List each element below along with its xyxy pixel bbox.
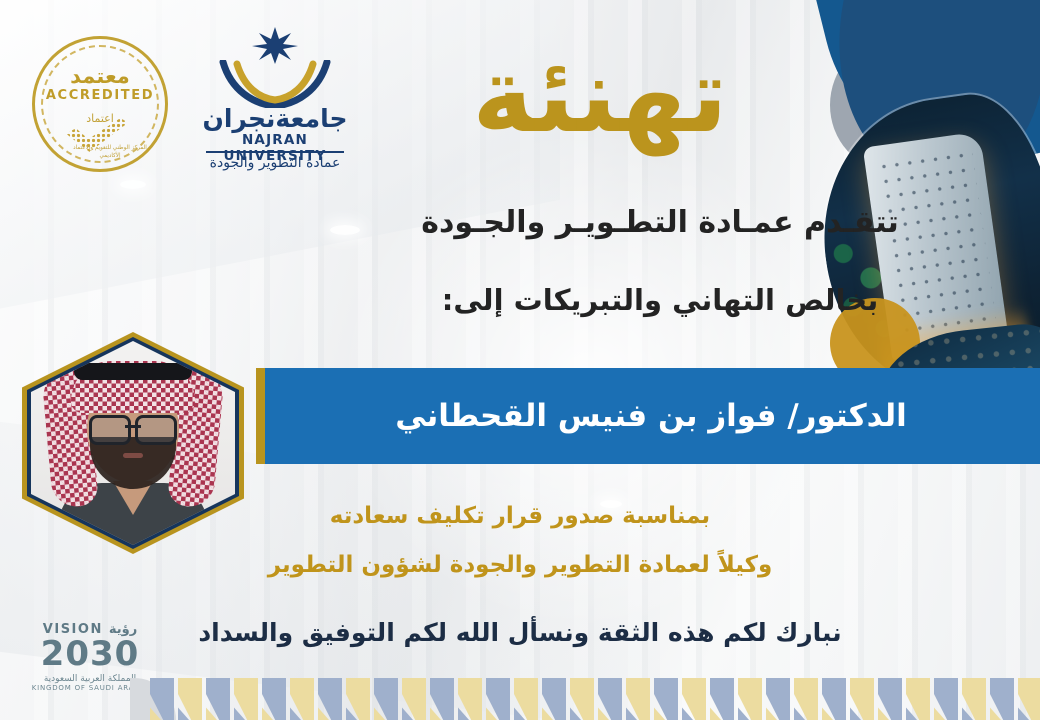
portrait-mouth xyxy=(123,453,143,458)
pattern-tile xyxy=(710,678,736,720)
pattern-tile xyxy=(514,678,540,720)
pattern-tile xyxy=(262,678,288,720)
message-line-2: وكيلاً لعمادة التطوير والجودة لشؤون التط… xyxy=(140,552,900,578)
pattern-tile xyxy=(234,678,260,720)
pattern-tile xyxy=(486,678,512,720)
pattern-tile xyxy=(878,678,904,720)
headline-line-2: بخالص التهاني والتبريكات إلى: xyxy=(340,283,980,317)
glasses-icon xyxy=(89,415,177,439)
pattern-tile xyxy=(626,678,652,720)
seal-fine-print: المركز الوطني للتقويم والاعتماد الأكاديم… xyxy=(70,144,150,161)
pattern-tile xyxy=(150,678,176,720)
pattern-tile xyxy=(934,678,960,720)
pattern-tile xyxy=(570,678,596,720)
honoree-name: الدكتور/ فواز بن فنيس القحطاني xyxy=(262,368,1040,464)
pattern-tile xyxy=(738,678,764,720)
pattern-tile xyxy=(822,678,848,720)
logo-arabic-name: جامعةنجران xyxy=(196,106,354,131)
pattern-tile xyxy=(794,678,820,720)
pattern-tile xyxy=(682,678,708,720)
portrait-igal xyxy=(74,363,192,380)
pattern-tile xyxy=(990,678,1016,720)
pattern-tile xyxy=(178,678,204,720)
headline-line-1: تتقـدم عمـادة التطـويـر والجـودة xyxy=(340,205,980,240)
logo-divider xyxy=(206,151,344,153)
pattern-tile xyxy=(346,678,372,720)
pattern-tile xyxy=(318,678,344,720)
pattern-tile xyxy=(962,678,988,720)
glasses-right-lens xyxy=(135,415,177,445)
pattern-tile xyxy=(542,678,568,720)
ceiling-lamp-icon xyxy=(120,180,146,189)
seal-arabic-sub: اعتماد xyxy=(32,112,168,125)
pattern-tile xyxy=(598,678,624,720)
seal-english-label: ACCREDITED xyxy=(32,88,168,103)
seal-arabic-label: معتمد xyxy=(32,64,168,88)
star-icon xyxy=(248,26,302,64)
pattern-tile xyxy=(766,678,792,720)
pattern-tile xyxy=(402,678,428,720)
glasses-left-lens xyxy=(89,415,131,445)
najran-university-logo: جامعةنجران NAJRAN UNIVERSITY عمادة التطو… xyxy=(196,24,354,168)
swoosh-icon xyxy=(219,60,331,108)
pattern-tile xyxy=(290,678,316,720)
pattern-tile xyxy=(430,678,456,720)
page-title: تهنئة xyxy=(460,34,740,157)
accreditation-seal: معتمد ACCREDITED اعتماد المركز الوطني لل… xyxy=(32,36,168,172)
pattern-tile xyxy=(1018,678,1040,720)
glasses-bridge xyxy=(125,425,141,428)
pattern-tile xyxy=(850,678,876,720)
logo-deanship: عمادة التطوير والجودة xyxy=(196,155,354,171)
pattern-tile xyxy=(458,678,484,720)
pattern-tile xyxy=(906,678,932,720)
pattern-tile xyxy=(654,678,680,720)
closing-line: نبارك لكم هذه الثقة ونسأل الله لكم التوف… xyxy=(140,618,900,647)
vision-year: 2030 xyxy=(24,637,156,673)
congratulation-poster: معتمد ACCREDITED اعتماد المركز الوطني لل… xyxy=(0,0,1040,720)
message-line-1: بمناسبة صدور قرار تكليف سعادته xyxy=(140,503,900,529)
pattern-tile xyxy=(206,678,232,720)
bottom-pattern-strip xyxy=(150,678,1040,720)
pattern-tile xyxy=(374,678,400,720)
